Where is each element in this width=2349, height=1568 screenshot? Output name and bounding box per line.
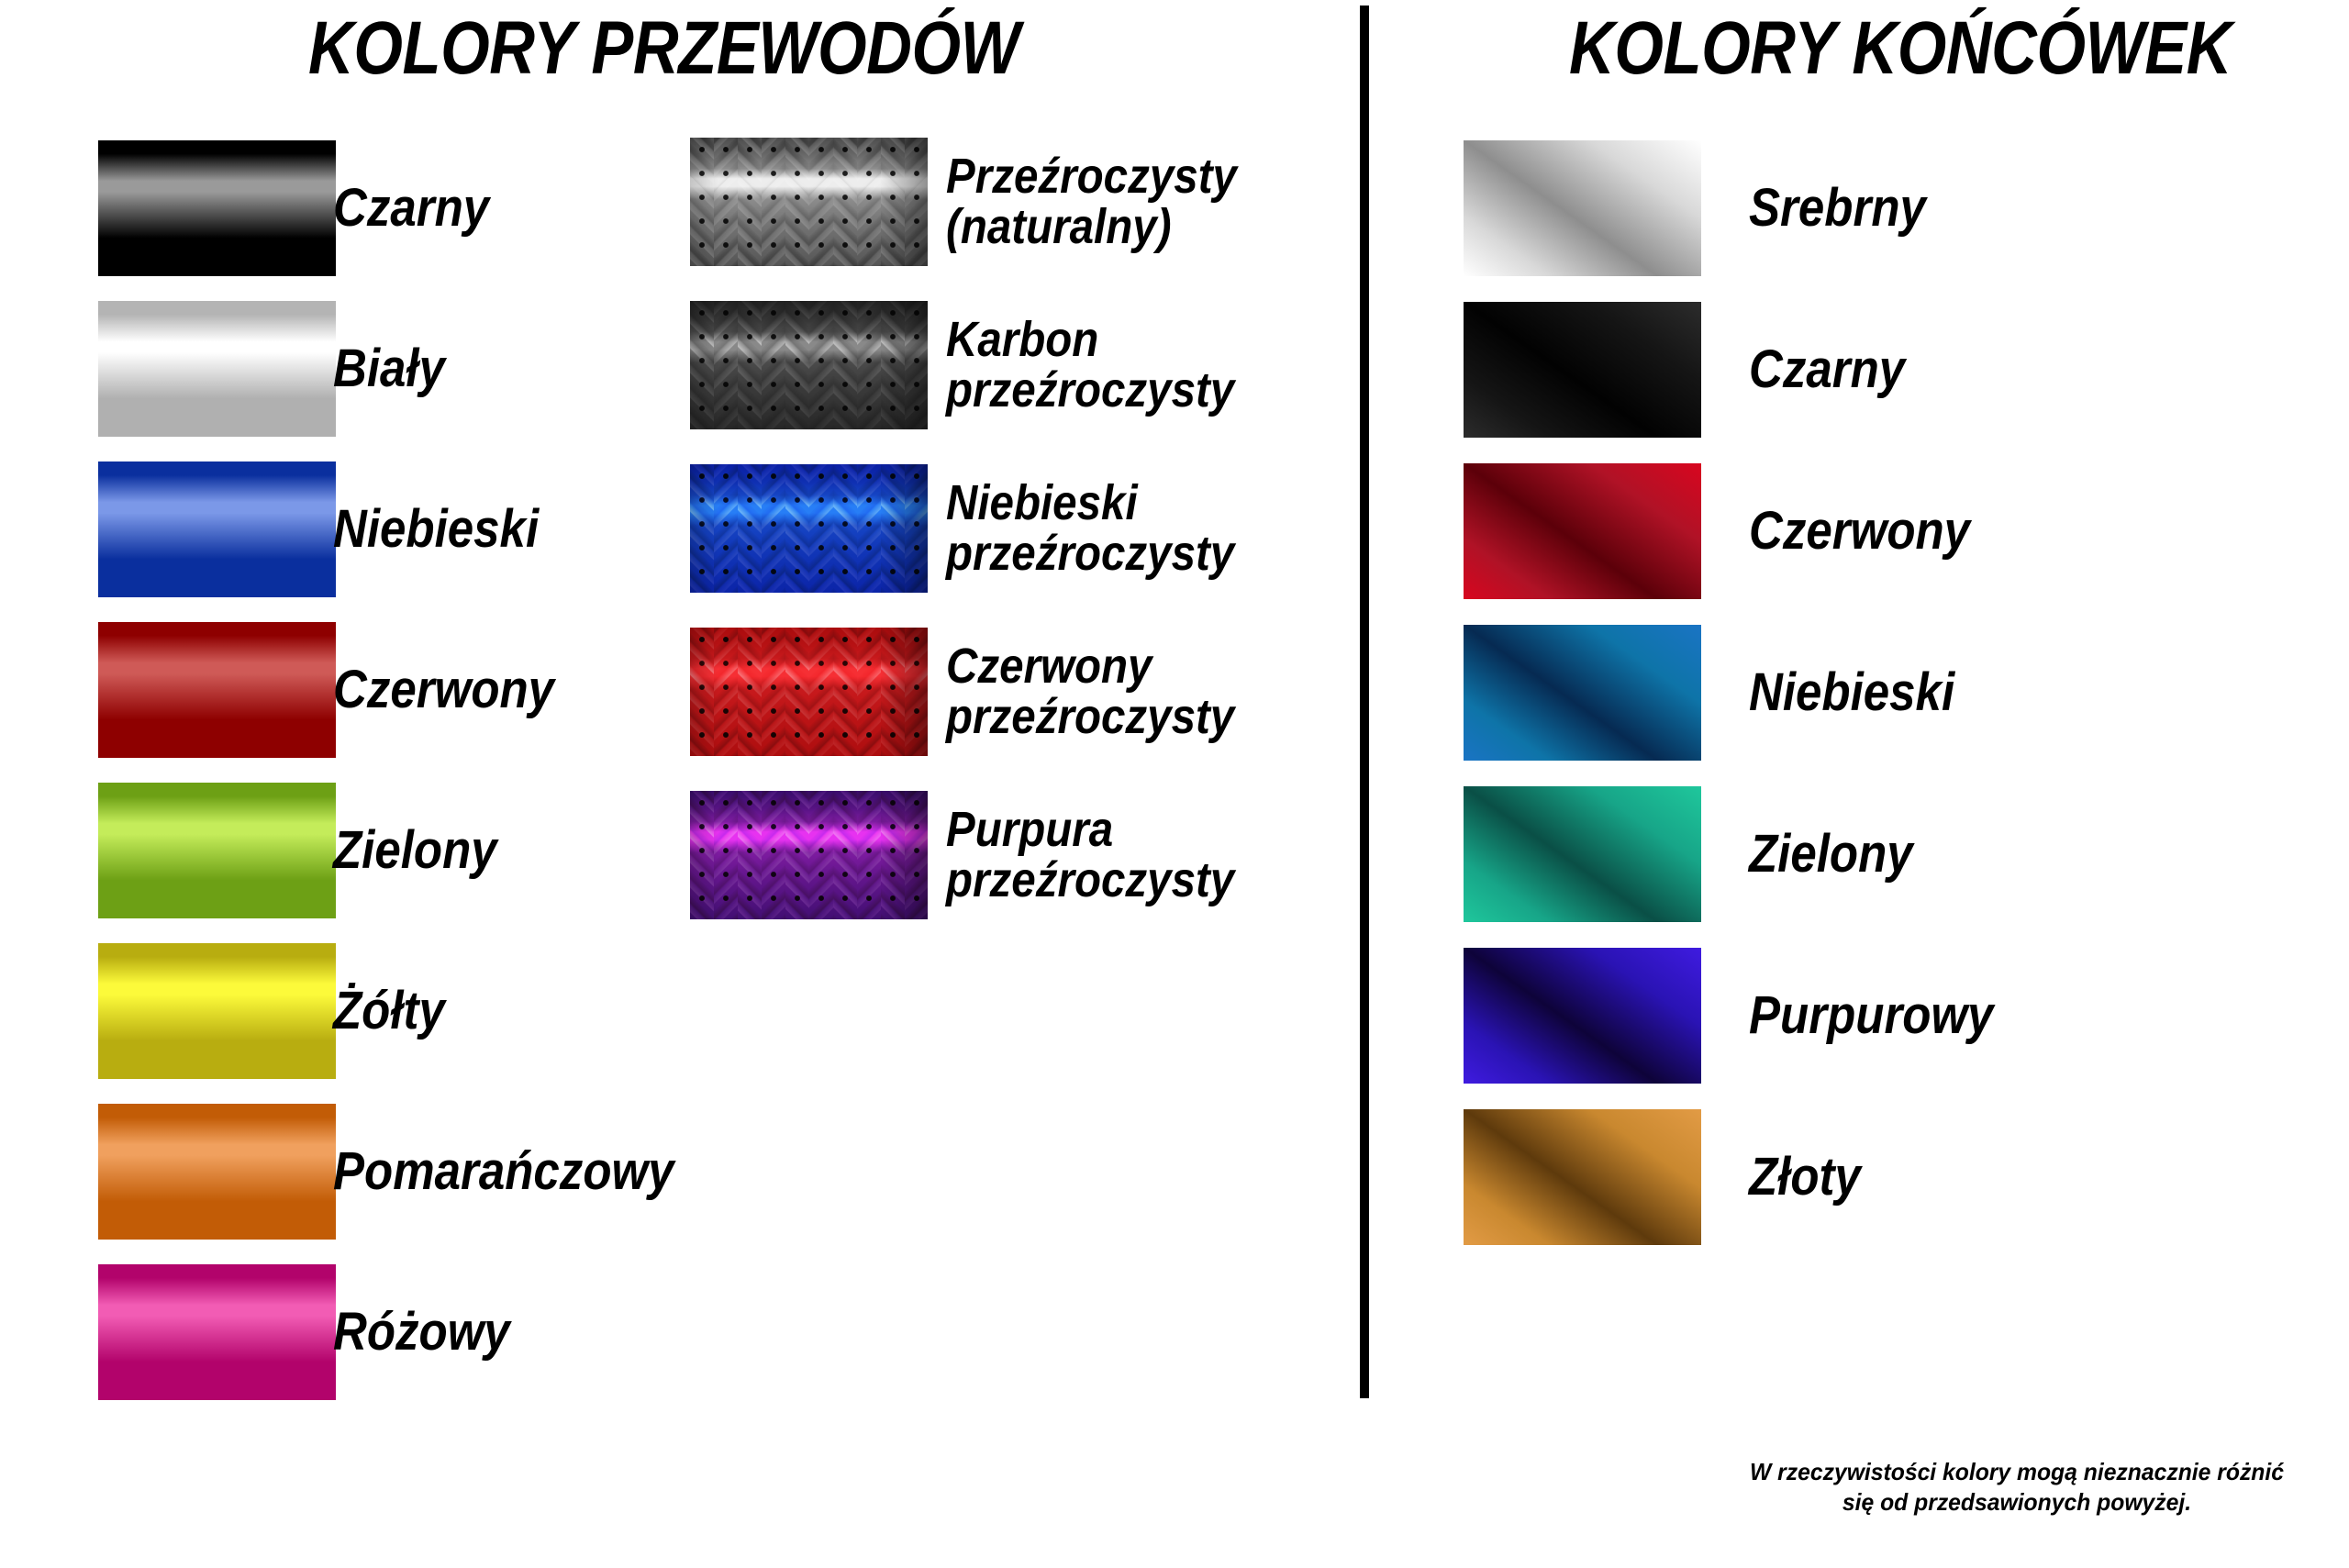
wire-color-swatch bbox=[98, 1104, 336, 1240]
end-color-row: Zielony bbox=[1464, 786, 1935, 922]
wire-color-label: Różowy bbox=[333, 1305, 510, 1359]
sleeve-color-row: Czerwony przeźroczysty bbox=[690, 628, 1274, 756]
end-color-swatch bbox=[1464, 302, 1701, 438]
wire-color-label: Pomarańczowy bbox=[333, 1144, 674, 1198]
weave-edge-shading bbox=[690, 791, 928, 919]
end-color-row: Niebieski bbox=[1464, 625, 1983, 761]
end-color-swatch bbox=[1464, 140, 1701, 276]
sleeve-color-swatch bbox=[690, 628, 928, 756]
end-color-swatch bbox=[1464, 786, 1701, 922]
wire-color-label: Zielony bbox=[333, 823, 497, 877]
end-color-row: Srebrny bbox=[1464, 140, 1950, 276]
weave-edge-shading bbox=[690, 464, 928, 593]
ends-section-title: KOLORY KOŃCÓWEK bbox=[1569, 6, 2232, 92]
section-divider bbox=[1360, 6, 1369, 1398]
wire-color-label: Czarny bbox=[333, 181, 489, 235]
end-color-label: Złoty bbox=[1749, 1150, 1861, 1204]
wire-color-swatch bbox=[98, 301, 336, 437]
wire-color-label: Biały bbox=[333, 341, 445, 395]
wire-color-row: Żółty bbox=[98, 943, 461, 1079]
wire-color-label: Żółty bbox=[333, 984, 445, 1038]
end-color-label: Czerwony bbox=[1749, 504, 1970, 558]
wire-color-row: Biały bbox=[98, 301, 461, 437]
sleeve-color-swatch bbox=[690, 464, 928, 593]
sleeve-color-swatch bbox=[690, 301, 928, 429]
wire-color-row: Różowy bbox=[98, 1264, 534, 1400]
end-color-swatch bbox=[1464, 625, 1701, 761]
wire-color-swatch bbox=[98, 783, 336, 918]
weave-edge-shading bbox=[690, 138, 928, 266]
end-color-row: Czarny bbox=[1464, 302, 1926, 438]
end-color-row: Złoty bbox=[1464, 1109, 1876, 1245]
end-color-row: Czerwony bbox=[1464, 463, 2000, 599]
sleeve-color-row: Purpura przeźroczysty bbox=[690, 791, 1274, 919]
wire-color-swatch bbox=[98, 943, 336, 1079]
end-color-swatch bbox=[1464, 463, 1701, 599]
wire-color-row: Pomarańczowy bbox=[98, 1104, 720, 1240]
end-color-row: Purpurowy bbox=[1464, 948, 2027, 1084]
sleeve-color-label: Przeźroczysty (naturalny) bbox=[946, 151, 1237, 252]
wire-color-swatch bbox=[98, 462, 336, 597]
end-color-label: Zielony bbox=[1749, 827, 1913, 881]
wire-color-row: Czerwony bbox=[98, 622, 584, 758]
end-color-label: Srebrny bbox=[1749, 181, 1926, 235]
wire-color-swatch bbox=[98, 1264, 336, 1400]
wire-color-row: Czarny bbox=[98, 140, 510, 276]
weave-edge-shading bbox=[690, 628, 928, 756]
end-color-swatch bbox=[1464, 1109, 1701, 1245]
sleeve-color-row: Karbon przeźroczysty bbox=[690, 301, 1274, 429]
weave-edge-shading bbox=[690, 301, 928, 429]
color-chart-page: KOLORY PRZEWODÓW KOLORY KOŃCÓWEK CzarnyB… bbox=[0, 0, 2349, 1568]
sleeve-color-label: Karbon przeźroczysty bbox=[946, 315, 1234, 416]
sleeve-color-swatch bbox=[690, 138, 928, 266]
wire-color-swatch bbox=[98, 140, 336, 276]
end-color-label: Czarny bbox=[1749, 342, 1905, 396]
sleeve-color-label: Czerwony przeźroczysty bbox=[946, 641, 1234, 742]
wire-color-row: Zielony bbox=[98, 783, 519, 918]
sleeve-color-label: Niebieski przeźroczysty bbox=[946, 478, 1234, 579]
sleeve-color-row: Przeźroczysty (naturalny) bbox=[690, 138, 1276, 266]
wire-color-label: Niebieski bbox=[333, 502, 539, 556]
sleeve-color-swatch bbox=[690, 791, 928, 919]
wire-color-label: Czerwony bbox=[333, 662, 554, 717]
end-color-swatch bbox=[1464, 948, 1701, 1084]
wires-section-title: KOLORY PRZEWODÓW bbox=[308, 6, 1019, 92]
disclaimer-note: W rzeczywistości kolory mogą nieznacznie… bbox=[1738, 1457, 2296, 1518]
sleeve-color-label: Purpura przeźroczysty bbox=[946, 805, 1234, 906]
wire-color-swatch bbox=[98, 622, 336, 758]
end-color-label: Niebieski bbox=[1749, 665, 1954, 719]
wire-color-row: Niebieski bbox=[98, 462, 567, 597]
sleeve-color-row: Niebieski przeźroczysty bbox=[690, 464, 1274, 593]
end-color-label: Purpurowy bbox=[1749, 988, 1994, 1042]
